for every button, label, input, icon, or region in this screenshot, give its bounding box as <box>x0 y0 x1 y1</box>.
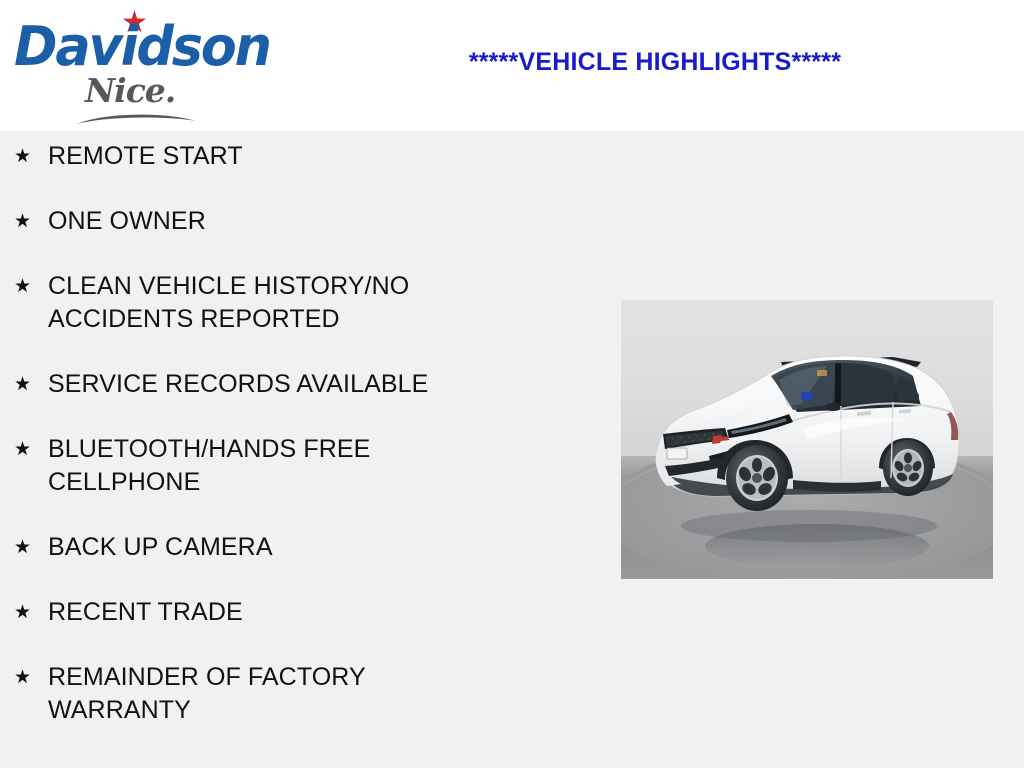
highlight-label: RECENT TRADE <box>34 596 488 629</box>
list-item: ★ ONE OWNER <box>0 205 560 238</box>
highlight-label: SERVICE RECORDS AVAILABLE <box>34 368 488 401</box>
highlight-label: REMAINDER OF FACTORY WARRANTY <box>34 661 488 727</box>
highlight-label: BACK UP CAMERA <box>34 531 488 564</box>
star-bullet-icon: ★ <box>14 270 34 303</box>
vehicle-photo[interactable] <box>621 300 993 579</box>
star-bullet-icon: ★ <box>14 368 34 401</box>
star-bullet-icon: ★ <box>14 205 34 238</box>
vehicle-highlights-list: ★ REMOTE START ★ ONE OWNER ★ CLEAN VEHIC… <box>0 140 560 759</box>
list-item: ★ REMAINDER OF FACTORY WARRANTY <box>0 661 560 727</box>
list-item: ★ CLEAN VEHICLE HISTORY/NO ACCIDENTS REP… <box>0 270 560 336</box>
dealer-logo[interactable]: ★ Davidson Nice. <box>8 6 268 124</box>
photo-stage <box>621 300 993 579</box>
highlight-label: BLUETOOTH/HANDS FREE CELLPHONE <box>34 433 488 499</box>
star-bullet-icon: ★ <box>14 531 34 564</box>
logo-swoosh-icon <box>75 110 198 126</box>
highlight-label: ONE OWNER <box>34 205 488 238</box>
vehicle-highlights-page: ★ Davidson Nice. *****VEHICLE HIGHLIGHTS… <box>0 0 1024 768</box>
list-item: ★ RECENT TRADE <box>0 596 560 629</box>
logo-primary-word: Davidson <box>14 20 270 74</box>
list-item: ★ SERVICE RECORDS AVAILABLE <box>0 368 560 401</box>
page-header: ★ Davidson Nice. *****VEHICLE HIGHLIGHTS… <box>0 0 1024 131</box>
logo-script-word: Nice. <box>85 74 175 107</box>
star-bullet-icon: ★ <box>14 661 34 694</box>
page-title: *****VEHICLE HIGHLIGHTS***** <box>420 48 890 77</box>
star-bullet-icon: ★ <box>14 596 34 629</box>
highlight-label: CLEAN VEHICLE HISTORY/NO ACCIDENTS REPOR… <box>34 270 488 336</box>
suv-illustration-icon <box>621 300 993 579</box>
highlight-label: REMOTE START <box>34 140 488 173</box>
list-item: ★ BLUETOOTH/HANDS FREE CELLPHONE <box>0 433 560 499</box>
star-bullet-icon: ★ <box>14 433 34 466</box>
list-item: ★ BACK UP CAMERA <box>0 531 560 564</box>
star-bullet-icon: ★ <box>14 140 34 173</box>
list-item: ★ REMOTE START <box>0 140 560 173</box>
